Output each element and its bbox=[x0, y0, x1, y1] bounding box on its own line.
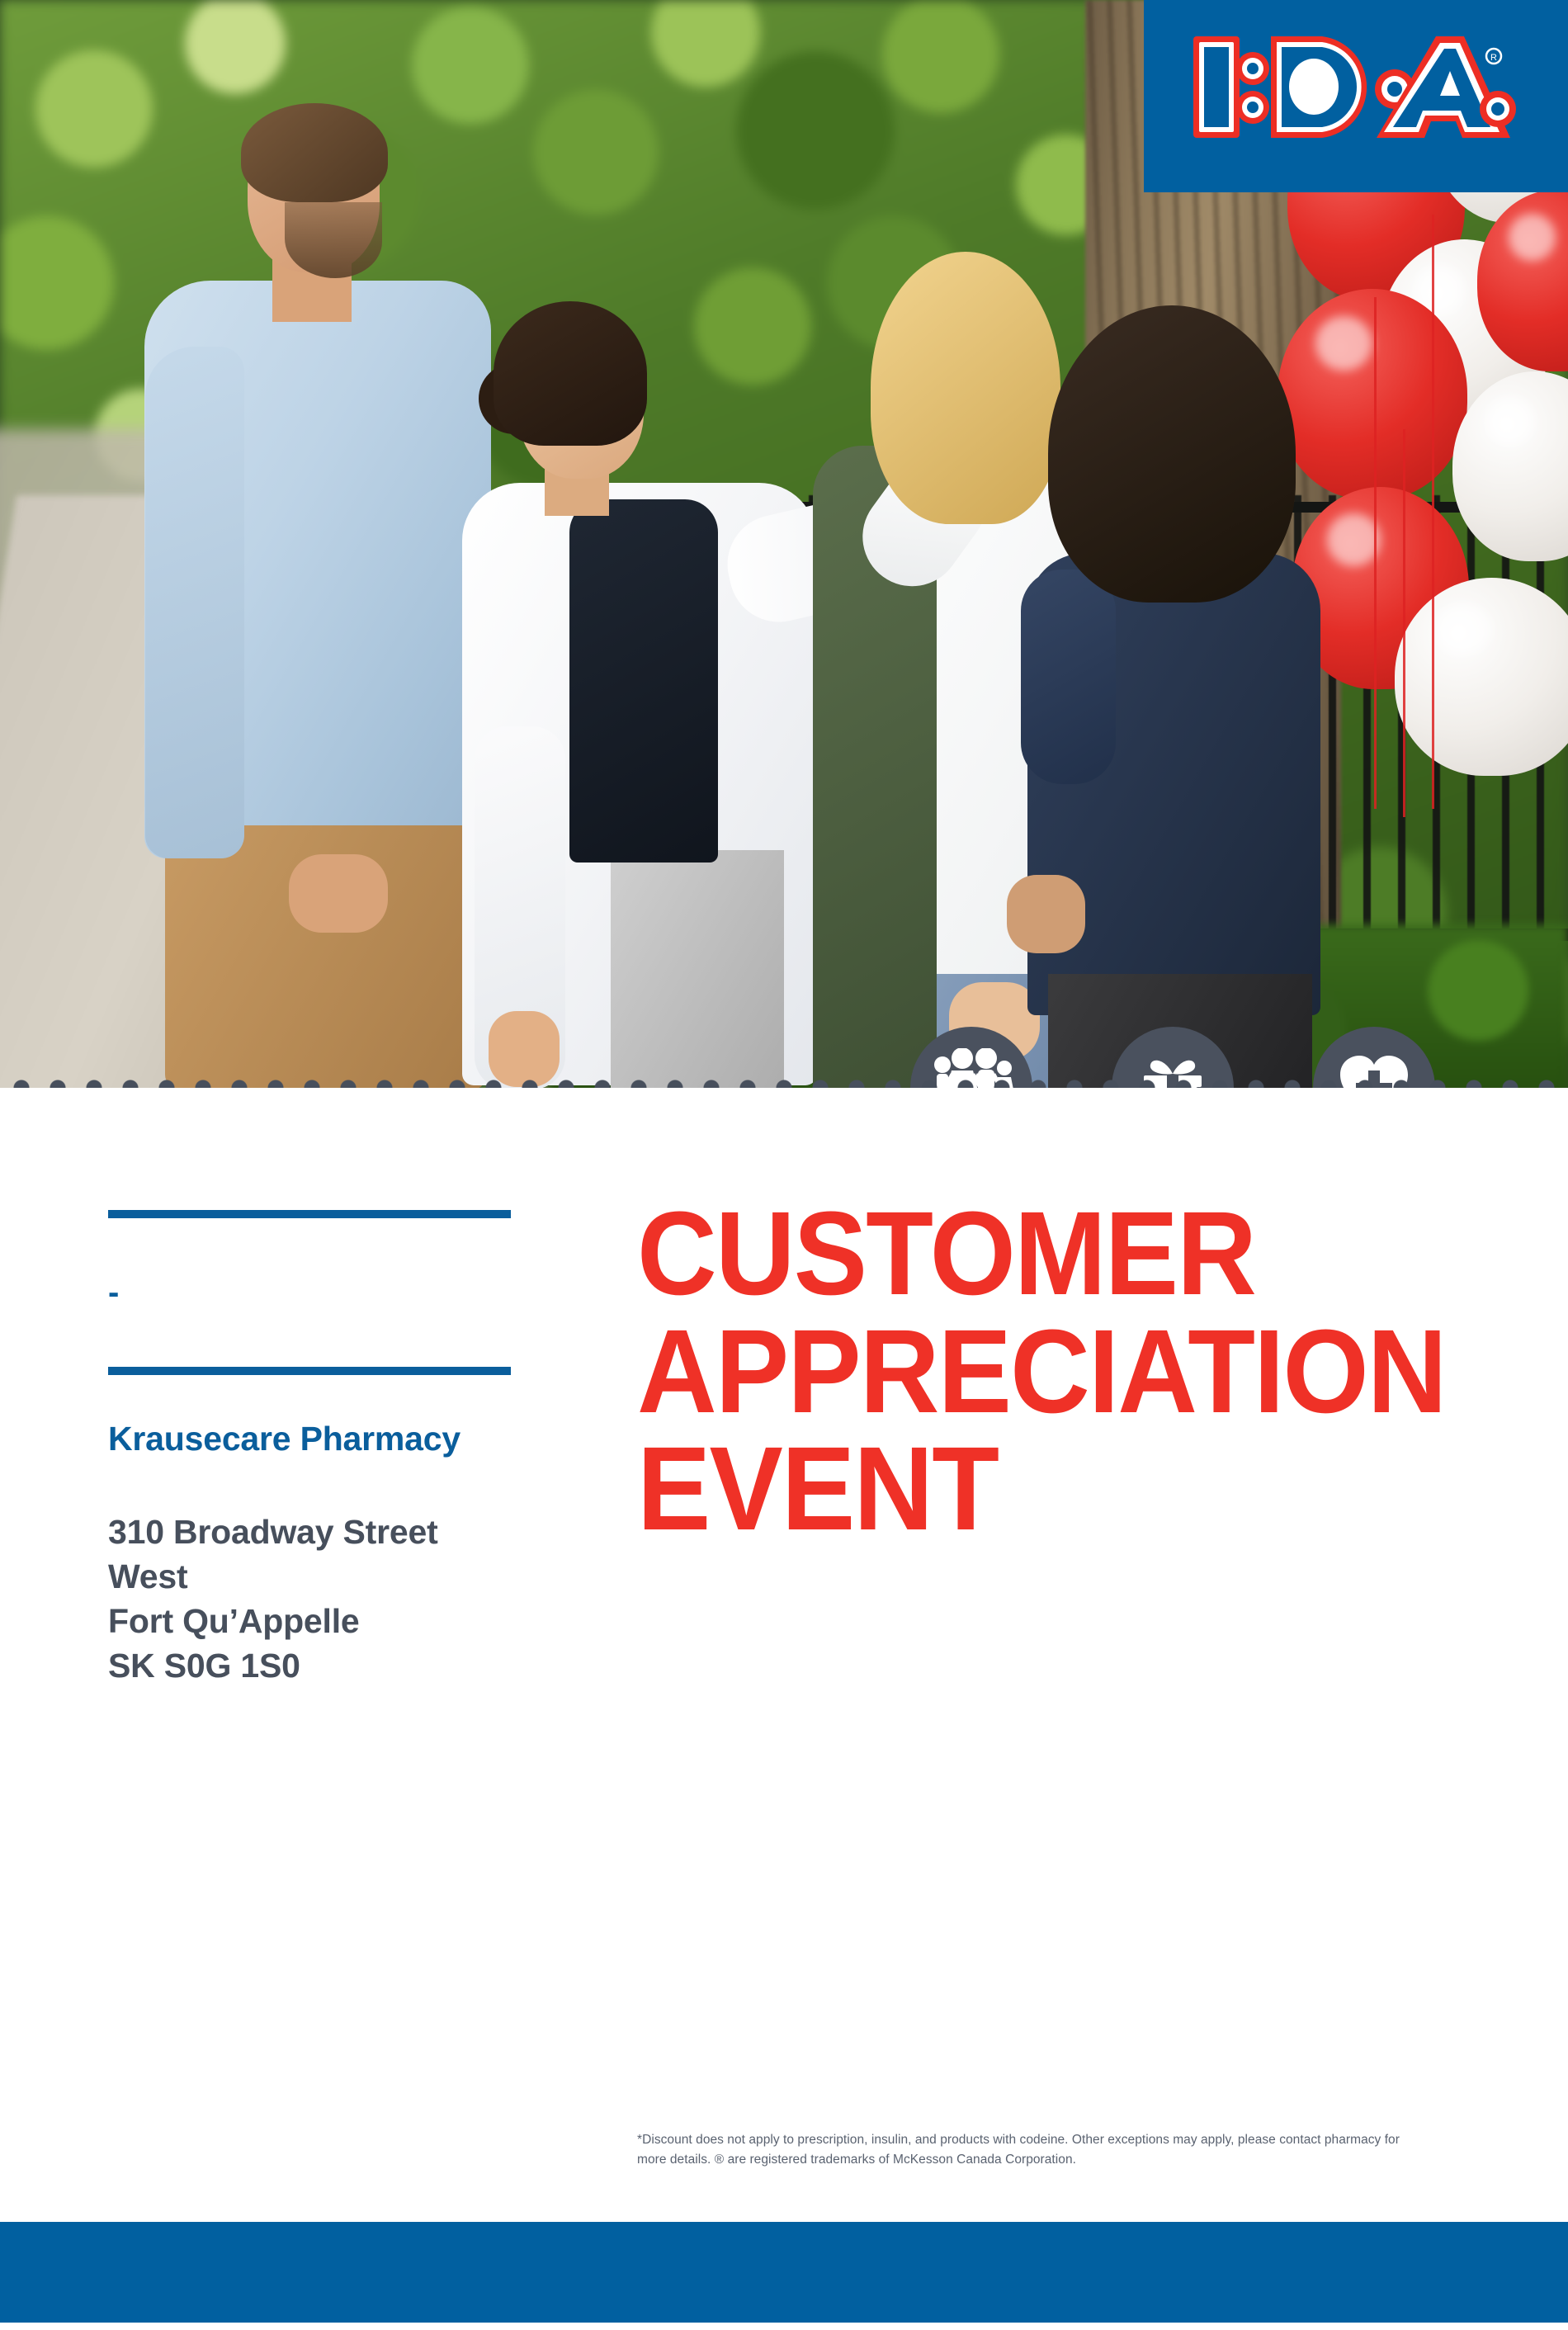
store-info-block: - Krausecare Pharmacy 310 Broadway Stree… bbox=[108, 1210, 511, 1688]
page-title: CUSTOMER APPRECIATION EVENT bbox=[637, 1195, 1443, 1548]
customer-woman2-hair bbox=[1048, 305, 1296, 603]
balloon-red bbox=[1278, 289, 1467, 499]
customer-woman2-sleeve bbox=[1021, 570, 1116, 784]
balloon-string bbox=[1432, 215, 1434, 809]
dotted-divider bbox=[0, 1075, 1568, 1088]
rule-bottom bbox=[108, 1367, 511, 1375]
address-line-3: SK S0G 1S0 bbox=[108, 1643, 511, 1688]
balloon-string bbox=[1403, 429, 1405, 817]
footer-bar bbox=[0, 2222, 1568, 2323]
customer-man-arm bbox=[145, 347, 244, 858]
address-line-1: 310 Broadway Street West bbox=[108, 1510, 511, 1599]
event-date: - bbox=[108, 1274, 120, 1311]
store-address: 310 Broadway Street West Fort Qu’Appelle… bbox=[108, 1510, 511, 1688]
rule-top bbox=[108, 1210, 511, 1218]
pharmacist-top bbox=[569, 499, 718, 863]
svg-text:R: R bbox=[1490, 53, 1497, 63]
pharmacist-pants bbox=[611, 850, 784, 1088]
balloon-string bbox=[1374, 297, 1377, 809]
ida-logo-icon: R bbox=[1188, 31, 1527, 143]
customer-woman2-hand bbox=[1007, 875, 1085, 953]
headline-line-1: CUSTOMER bbox=[637, 1195, 1443, 1313]
address-line-2: Fort Qu’Appelle bbox=[108, 1599, 511, 1643]
poster-page: R bbox=[0, 0, 1568, 2330]
customer-woman-hair bbox=[871, 252, 1060, 524]
event-date-row: - bbox=[108, 1218, 511, 1367]
pharmacist-hair bbox=[494, 301, 647, 446]
headline-line-3: EVENT bbox=[637, 1430, 1443, 1548]
customer-man-hand bbox=[289, 854, 388, 933]
content-area: - Krausecare Pharmacy 310 Broadway Stree… bbox=[0, 1088, 1568, 2330]
headline-line-2: APPRECIATION bbox=[637, 1313, 1443, 1431]
customer-man-beard bbox=[285, 202, 382, 278]
disclaimer-text: *Discount does not apply to prescription… bbox=[637, 2130, 1429, 2170]
customer-man-hair bbox=[241, 103, 388, 202]
hero-photo: R bbox=[0, 0, 1568, 1088]
store-name: Krausecare Pharmacy bbox=[108, 1420, 511, 1458]
